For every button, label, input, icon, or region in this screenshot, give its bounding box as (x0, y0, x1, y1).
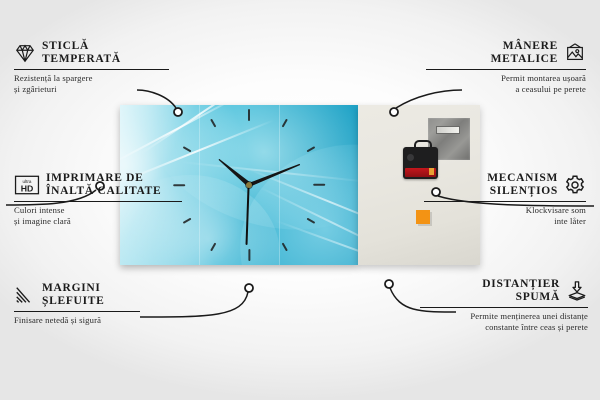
callout-subtitle: Klockvisare som inte låter (416, 205, 586, 226)
svg-text:HD: HD (21, 183, 34, 193)
callout-rule (420, 307, 588, 308)
callout-header: DISTANȚIER SPUMĂ (410, 278, 588, 304)
callout-tempered-glass: STICLĂ TEMPERATĂ Rezistență la spargere … (14, 40, 184, 95)
callout-subtitle: Permite menținerea unei distanțe constan… (410, 311, 588, 332)
callout-high-quality-print: ultra HD IMPRIMARE DE ÎNALTĂ CALITATE Cu… (14, 172, 184, 227)
callout-foam-spacer: DISTANȚIER SPUMĂ Permite menținerea unei… (410, 278, 588, 333)
callout-title: IMPRIMARE DE ÎNALTĂ CALITATE (46, 172, 161, 198)
hour-tick (248, 249, 250, 261)
hatched-edge-icon (14, 284, 36, 306)
hour-tick (282, 243, 288, 252)
callout-title: DISTANȚIER SPUMĂ (482, 278, 560, 304)
ultra-hd-badge-icon: ultra HD (14, 174, 40, 196)
leader-dot-foam (385, 280, 393, 288)
callout-header: ultra HD IMPRIMARE DE ÎNALTĂ CALITATE (14, 172, 184, 198)
callout-title: MECANISM SILENȚIOS (487, 172, 558, 198)
callout-polished-edges: MARGINI ȘLEFUITE Finisare netedă și sigu… (14, 282, 184, 326)
foam-pad-arrow-icon (566, 280, 588, 302)
gear-icon (564, 174, 586, 196)
callout-subtitle: Finisare netedă și sigură (14, 315, 184, 326)
callout-header: MARGINI ȘLEFUITE (14, 282, 184, 308)
hour-tick (313, 184, 325, 186)
callout-title: STICLĂ TEMPERATĂ (42, 40, 121, 66)
mechanism-hook (414, 140, 432, 151)
minute-hand (248, 163, 300, 187)
callout-subtitle: Rezistență la spargere și zgârieturi (14, 73, 184, 94)
diamond-icon (14, 42, 36, 64)
callout-title: MARGINI ȘLEFUITE (42, 282, 104, 308)
callout-subtitle: Permit montarea ușoară a ceasului pe per… (416, 73, 586, 94)
clock-face (169, 105, 329, 265)
callout-metal-handles: MÂNERE METALICE Permit montarea ușoară a… (416, 40, 586, 95)
clock-hub (246, 182, 252, 188)
callout-silent-mechanism: MECANISM SILENȚIOS Klockvisare som inte … (416, 172, 586, 227)
callout-rule (426, 69, 586, 70)
callout-rule (14, 69, 169, 70)
hour-tick (183, 146, 192, 152)
hour-tick (248, 109, 250, 121)
hour-tick (282, 119, 288, 128)
hour-tick (210, 243, 216, 252)
callout-header: STICLĂ TEMPERATĂ (14, 40, 184, 66)
leader-dot-edges (245, 284, 253, 292)
mechanism-shaft (407, 154, 414, 161)
infographic-canvas: STICLĂ TEMPERATĂ Rezistență la spargere … (0, 0, 600, 400)
callout-title: MÂNERE METALICE (491, 40, 558, 66)
callout-subtitle: Culori intense și imagine clară (14, 205, 184, 226)
callout-header: MÂNERE METALICE (416, 40, 586, 66)
hanger-slot (436, 126, 460, 134)
second-hand (246, 185, 250, 245)
picture-frame-hanger-icon (564, 42, 586, 64)
hour-tick (307, 218, 316, 224)
callout-rule (14, 201, 182, 202)
hour-tick (307, 146, 316, 152)
hour-tick (210, 119, 216, 128)
callout-rule (424, 201, 586, 202)
callout-rule (14, 311, 140, 312)
callout-header: MECANISM SILENȚIOS (416, 172, 586, 198)
hour-tick (183, 218, 192, 224)
